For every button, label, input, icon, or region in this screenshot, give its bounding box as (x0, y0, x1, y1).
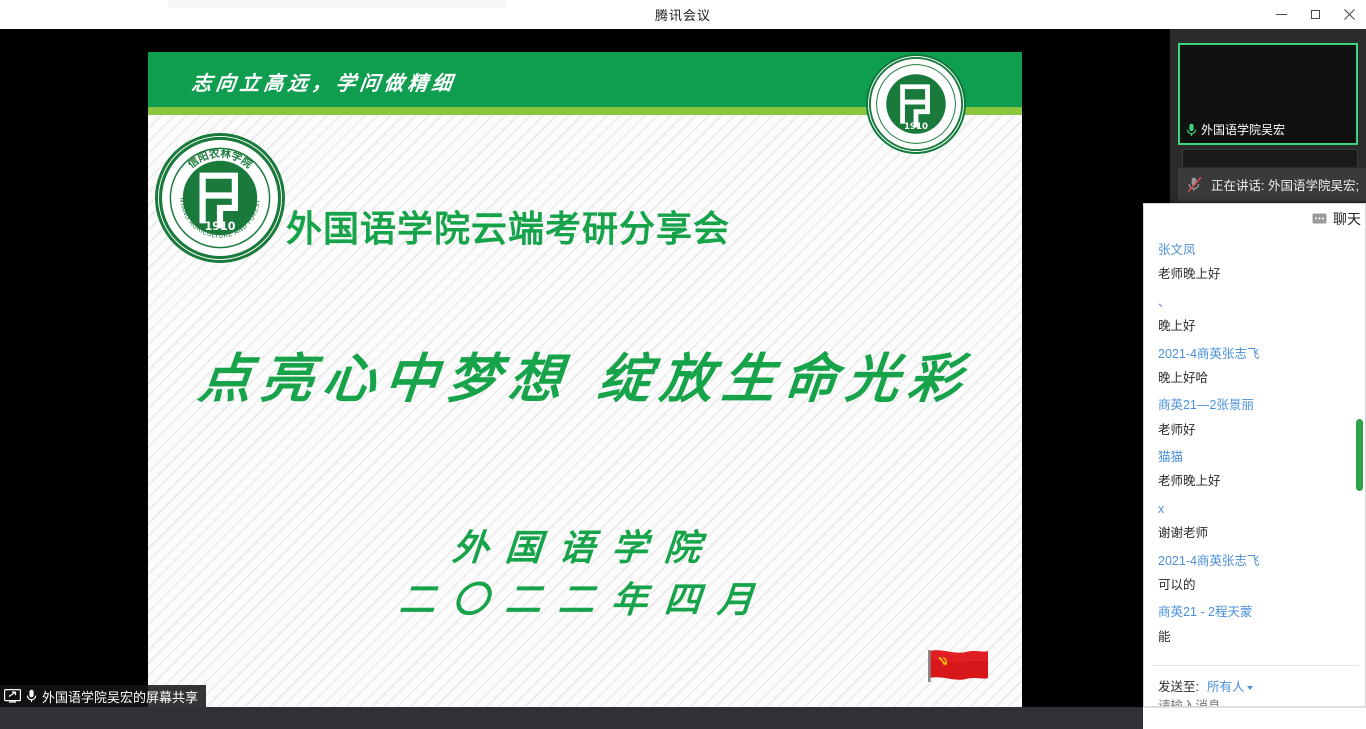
screen-share-badge-label: 外国语学院吴宏的屏幕共享 (42, 687, 198, 706)
active-speaker-label: 正在讲话: 外国语学院吴宏; (1211, 175, 1359, 194)
meeting-window: 腾讯会议 志向立高远，学问做精细 (0, 0, 1366, 729)
chat-message-input[interactable] (1158, 699, 1348, 707)
close-icon (1344, 9, 1355, 20)
chat-message-text: 可以的 (1158, 573, 1355, 597)
chat-message-text: 能 (1158, 625, 1355, 648)
chat-message-sender: 商英21—2张景丽 (1158, 393, 1355, 417)
cpc-party-flag (928, 648, 990, 689)
chat-panel-title: 聊天 (1333, 209, 1361, 229)
slide-motto: 志向立高远，学问做精细 (190, 67, 458, 96)
participant-name-row: 外国语学院吴宏 (1186, 121, 1285, 138)
chat-scrollbar[interactable] (1356, 419, 1363, 491)
slide-footer: 外国语学院 二〇二二年四月 (148, 522, 1022, 626)
send-to-value: 所有人 (1207, 680, 1245, 694)
chat-message: 商英21 - 2程天蒙能 (1158, 600, 1355, 648)
participant-video-tile[interactable]: 外国语学院吴宏 (1178, 43, 1358, 145)
send-to-row[interactable]: 发送至: 所有人 (1158, 676, 1253, 695)
background-window-strip (168, 0, 506, 8)
minimize-button[interactable] (1264, 0, 1298, 29)
chat-message: 2021-4商英张志飞可以的 (1158, 549, 1355, 598)
window-title: 腾讯会议 (655, 5, 711, 24)
chat-message: 、晚上好 (1158, 290, 1355, 339)
chat-message-text: 老师晚上好 (1158, 469, 1355, 493)
participant-video-tile-secondary[interactable] (1182, 149, 1358, 167)
send-to-dropdown[interactable]: 所有人 (1207, 676, 1253, 695)
active-speaker-bar: 正在讲话: 外国语学院吴宏; (1178, 168, 1366, 201)
chat-panel-footer (1143, 707, 1366, 729)
close-button[interactable] (1332, 0, 1366, 29)
chat-bubble-icon (1312, 213, 1327, 225)
send-to-label: 发送至: (1158, 676, 1199, 695)
chat-message-sender: 猫猫 (1158, 445, 1355, 469)
microphone-muted-icon (1186, 176, 1203, 193)
slide-title: 外国语学院云端考研分享会 (286, 200, 730, 252)
title-bar: 腾讯会议 (0, 0, 1366, 29)
chat-message-text: 老师晚上好 (1158, 262, 1355, 286)
chat-message: 张文凤老师晚上好 (1158, 238, 1355, 287)
chat-message-sender: x (1158, 497, 1355, 521)
microphone-icon (26, 689, 37, 703)
university-emblem-header: 1910 (866, 54, 966, 154)
svg-text:1910: 1910 (904, 122, 928, 132)
slide-footer-org: 外国语学院 (148, 522, 1022, 574)
restore-icon (1311, 10, 1320, 19)
chat-message-sender: 商英21 - 2程天蒙 (1158, 600, 1355, 624)
minimize-icon (1276, 14, 1287, 15)
chat-message-text: 老师好 (1158, 418, 1355, 442)
chat-message-sender: 2021-4商英张志飞 (1158, 549, 1355, 573)
presentation-slide: 志向立高远，学问做精细 1910 1910 (148, 52, 1022, 707)
slide-footer-date: 二〇二二年四月 (148, 574, 1022, 626)
chat-message: 商英21—2张景丽老师好 (1158, 393, 1355, 442)
chat-message-text: 晚上好哈 (1158, 366, 1355, 390)
participant-name: 外国语学院吴宏 (1201, 121, 1285, 138)
chat-message-list[interactable]: 张文凤老师晚上好、晚上好2021-4商英张志飞晚上好哈商英21—2张景丽老师好猫… (1144, 234, 1365, 648)
chat-panel-header: 聊天 (1144, 204, 1365, 234)
microphone-icon (1186, 123, 1197, 137)
desktop-taskbar-sliver (0, 707, 1143, 729)
chat-message-sender: 、 (1158, 290, 1355, 314)
chat-message-text: 晚上好 (1158, 314, 1355, 338)
slide-slogan: 点亮心中梦想 绽放生命光彩 (148, 337, 1022, 413)
window-controls (1264, 0, 1366, 29)
university-emblem-main: 1910 信阳农林学院 XINYANG AGRICULTURE AND FORE… (155, 133, 285, 263)
chevron-down-icon (1247, 686, 1253, 690)
screen-share-badge: 外国语学院吴宏的屏幕共享 (0, 685, 206, 707)
shared-screen-stage: 志向立高远，学问做精细 1910 1910 (0, 29, 1170, 707)
chat-message-text: 谢谢老师 (1158, 521, 1355, 545)
chat-compose-area: 发送至: 所有人 (1144, 666, 1365, 707)
chat-message: x谢谢老师 (1158, 497, 1355, 546)
chat-message-sender: 张文凤 (1158, 238, 1355, 262)
chat-panel: 聊天 张文凤老师晚上好、晚上好2021-4商英张志飞晚上好哈商英21—2张景丽老… (1143, 203, 1366, 707)
maximize-button[interactable] (1298, 0, 1332, 29)
chat-message: 2021-4商英张志飞晚上好哈 (1158, 342, 1355, 391)
screen-share-icon (4, 689, 21, 703)
chat-message: 猫猫老师晚上好 (1158, 445, 1355, 494)
chat-message-sender: 2021-4商英张志飞 (1158, 342, 1355, 366)
